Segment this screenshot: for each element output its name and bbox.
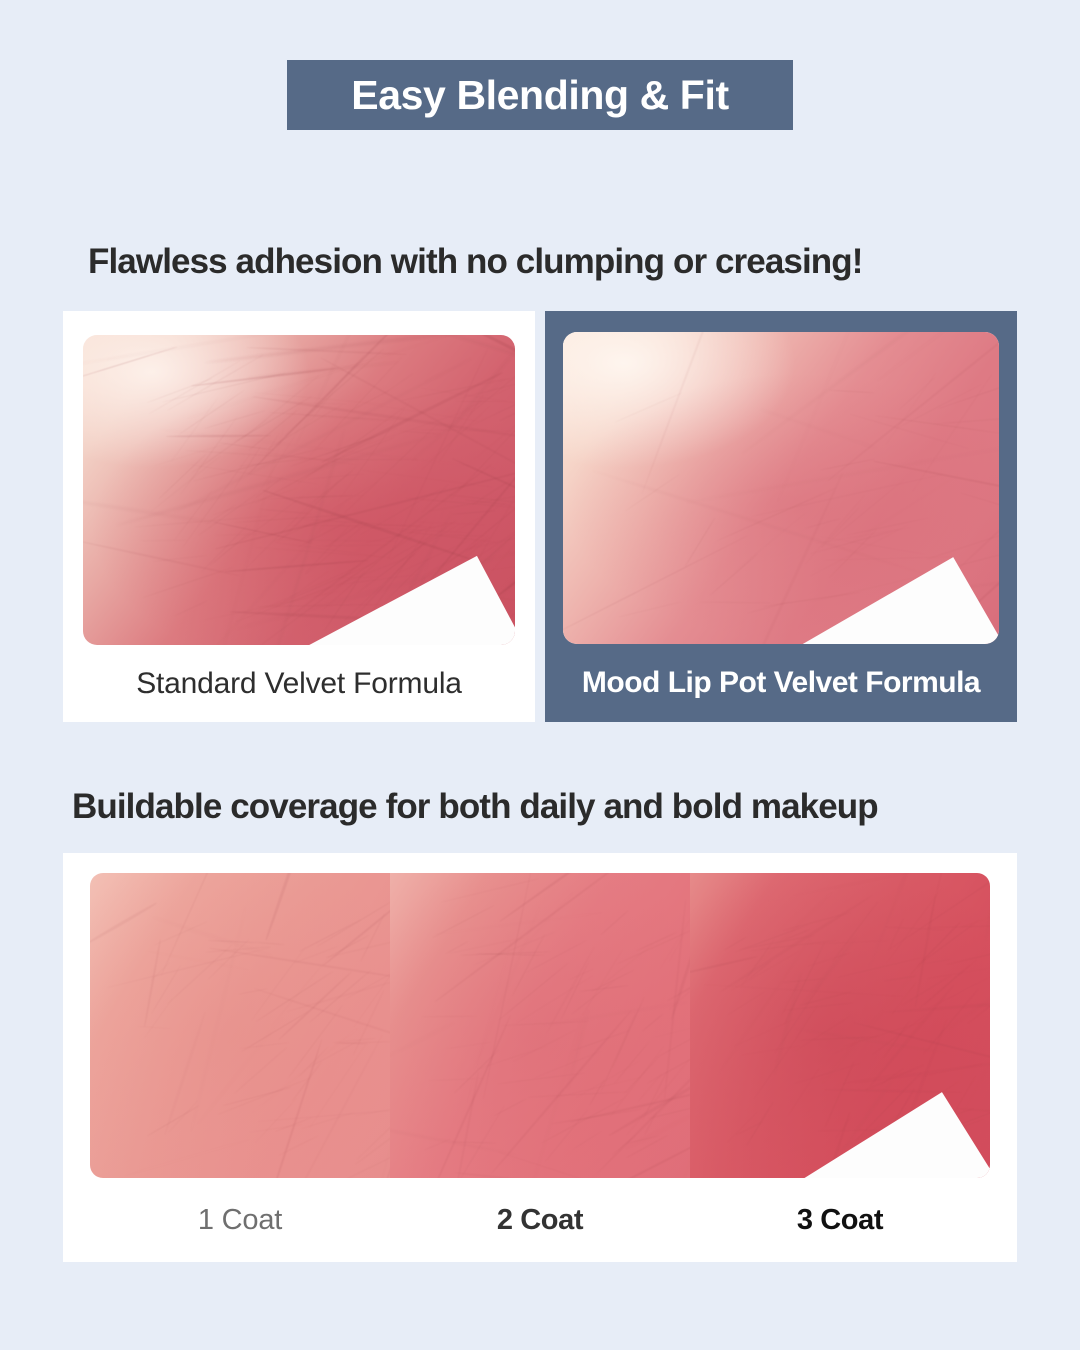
coat-swatch-strip	[90, 873, 990, 1178]
comparison-card-standard: Standard Velvet Formula	[63, 311, 535, 722]
comparison-card-standard-label: Standard Velvet Formula	[136, 645, 462, 722]
formula-comparison-row: Standard Velvet Formula Mood Lip Pot Vel…	[63, 311, 1017, 722]
swatch-2-coat	[390, 873, 690, 1178]
swatch-3-coat	[690, 873, 990, 1178]
section-heading-adhesion: Flawless adhesion with no clumping or cr…	[88, 244, 863, 279]
swatch-1-coat	[90, 873, 390, 1178]
buildable-coverage-card: 1 Coat 2 Coat 3 Coat	[63, 853, 1017, 1262]
swatch-standard-velvet-formula	[83, 335, 515, 645]
coat-label-row: 1 Coat 2 Coat 3 Coat	[90, 1178, 990, 1262]
coat-label-2: 2 Coat	[390, 1206, 690, 1235]
swatch-mood-lip-pot-velvet-formula	[563, 332, 999, 644]
page-title: Easy Blending & Fit	[351, 75, 728, 116]
coat-label-3: 3 Coat	[690, 1206, 990, 1235]
coat-label-1: 1 Coat	[90, 1206, 390, 1235]
page-title-banner: Easy Blending & Fit	[287, 60, 793, 130]
product-detail-page: Easy Blending & Fit Flawless adhesion wi…	[0, 0, 1080, 1350]
comparison-card-featured-label: Mood Lip Pot Velvet Formula	[582, 644, 980, 722]
section-heading-buildable: Buildable coverage for both daily and bo…	[72, 789, 878, 824]
comparison-card-featured: Mood Lip Pot Velvet Formula	[545, 311, 1017, 722]
